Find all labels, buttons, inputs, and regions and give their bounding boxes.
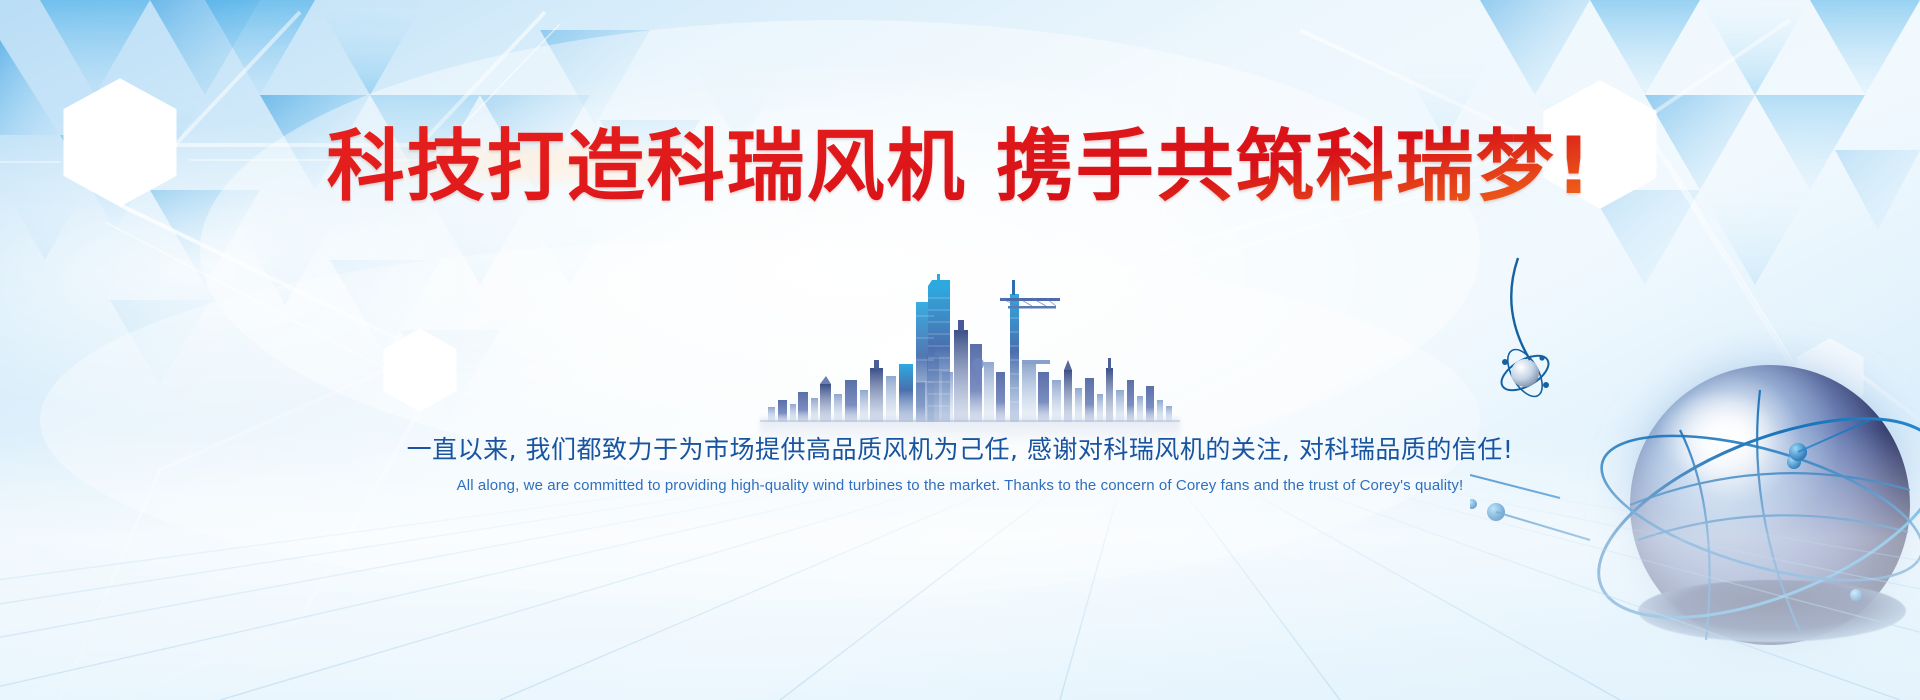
banner-subtitle-english: All along, we are committed to providing…: [0, 476, 1920, 496]
hero-banner: 科技打造科瑞风机 携手共筑科瑞梦! 科技打造科瑞风机 携手共筑科瑞梦! 一直以来…: [0, 0, 1920, 700]
banner-text-content: 科技打造科瑞风机 携手共筑科瑞梦! 科技打造科瑞风机 携手共筑科瑞梦! 一直以来…: [0, 0, 1920, 700]
banner-subtitle-chinese: 一直以来, 我们都致力于为市场提供高品质风机为己任, 感谢对科瑞风机的关注, 对…: [0, 433, 1920, 467]
banner-headline: 科技打造科瑞风机 携手共筑科瑞梦!: [0, 126, 1920, 208]
